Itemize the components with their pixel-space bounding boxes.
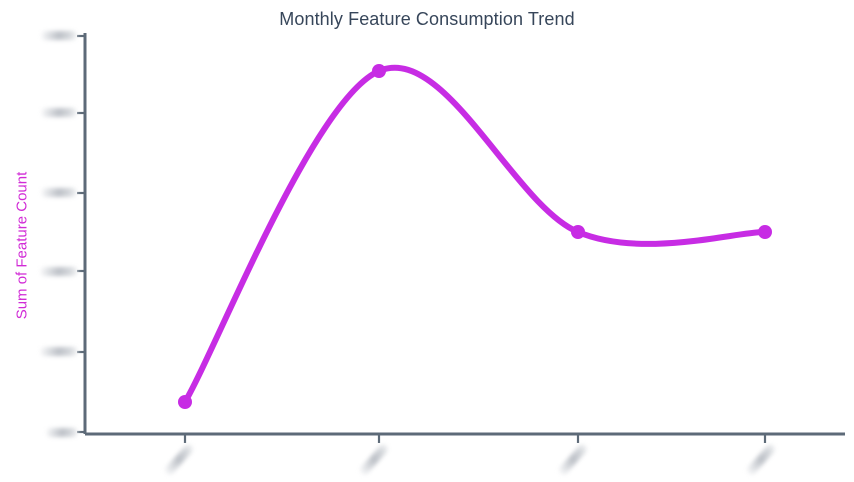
data-point-marker[interactable]: [372, 64, 386, 78]
chart-container: Monthly Feature Consumption Trend Sum of…: [0, 0, 854, 482]
data-point-marker[interactable]: [178, 395, 192, 409]
plot-area: [0, 0, 854, 482]
line-series-sum-of-feature-count: [185, 68, 765, 402]
data-point-marker[interactable]: [571, 225, 585, 239]
data-point-marker[interactable]: [758, 225, 772, 239]
